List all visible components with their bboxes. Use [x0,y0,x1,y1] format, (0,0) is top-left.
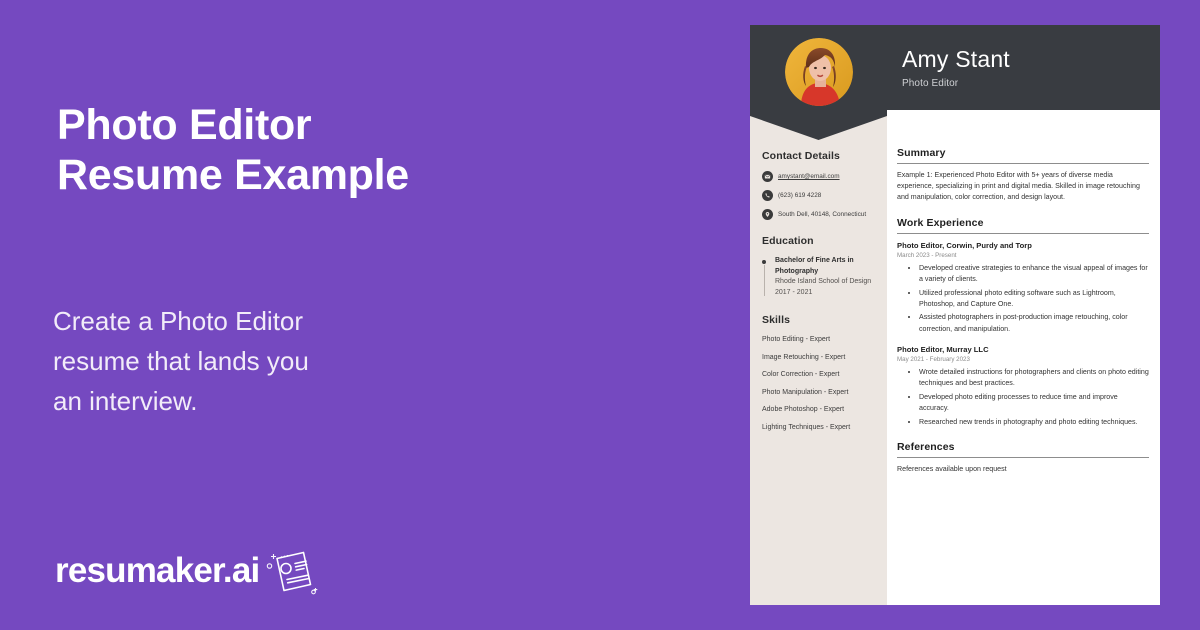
list-item: Lighting Techniques - Expert [762,423,880,433]
job-dates: May 2021 - February 2023 [897,355,1149,365]
job-bullets: Wrote detailed instructions for photogra… [897,367,1149,428]
summary-text: Example 1: Experienced Photo Editor with… [897,170,1149,204]
subheading-line-1: Create a Photo Editor [53,301,473,341]
education-dates: 2017 - 2021 [775,288,880,299]
brand-logo[interactable]: resumaker.ai [55,548,319,594]
timeline-line [764,265,765,296]
subheading-line-3: an interview. [53,381,473,421]
list-item: Wrote detailed instructions for photogra… [919,367,1149,389]
list-item: Adobe Photoshop - Expert [762,405,880,415]
job-entry: Photo Editor, Corwin, Purdy and Torp Mar… [897,240,1149,335]
list-item: Color Correction - Expert [762,370,880,380]
location-pin-icon [762,209,773,220]
list-item: Assisted photographers in post-productio… [919,312,1149,334]
subheading-line-2: resume that lands you [53,341,473,381]
education-heading: Education [762,235,880,247]
avatar [785,38,853,106]
contact-item-location: South Dell, 40148, Connecticut [762,209,880,220]
job-bullets: Developed creative strategies to enhance… [897,263,1149,335]
resume-sidebar-content: Contact Details amystant@email.com (623)… [762,150,880,440]
resume-main-column: Summary Example 1: Experienced Photo Edi… [897,147,1149,488]
skills-section: Skills Photo Editing - Expert Image Reto… [762,314,880,433]
summary-section: Summary Example 1: Experienced Photo Edi… [897,147,1149,204]
education-school: Rhode Island School of Design [775,277,880,288]
education-degree: Bachelor of Fine Arts in Photography [775,256,880,277]
skills-heading: Skills [762,314,880,326]
person-job-title: Photo Editor [902,78,1010,89]
list-item: Utilized professional photo editing soft… [919,288,1149,310]
contact-details-heading: Contact Details [762,150,880,162]
list-item: Developed creative strategies to enhance… [919,263,1149,285]
promo-subheading: Create a Photo Editor resume that lands … [53,301,473,421]
envelope-icon [762,171,773,182]
work-experience-heading: Work Experience [897,217,1149,234]
job-dates: March 2023 - Present [897,251,1149,261]
job-title: Photo Editor, Murray LLC [897,344,1149,355]
summary-heading: Summary [897,147,1149,164]
phone-icon [762,190,773,201]
resume-document-icon [263,546,319,596]
education-entry: Bachelor of Fine Arts in Photography Rho… [762,256,880,298]
list-item: Developed photo editing processes to red… [919,392,1149,414]
resume-preview-card[interactable]: Amy Stant Photo Editor Contact Details a… [750,25,1160,605]
references-section: References References available upon req… [897,441,1149,475]
job-title: Photo Editor, Corwin, Purdy and Torp [897,240,1149,251]
list-item: Photo Manipulation - Expert [762,388,880,398]
page-title: Photo Editor Resume Example [57,100,677,200]
header-chevron-shape [750,110,887,140]
contact-item-phone: (623) 619 4228 [762,190,880,201]
contact-item-email[interactable]: amystant@email.com [762,171,880,182]
education-section: Education Bachelor of Fine Arts in Photo… [762,235,880,298]
contact-location-text: South Dell, 40148, Connecticut [778,210,866,219]
job-entry: Photo Editor, Murray LLC May 2021 - Febr… [897,344,1149,428]
promo-banner: Photo Editor Resume Example Create a Pho… [0,0,1200,630]
contact-details-section: Contact Details amystant@email.com (623)… [762,150,880,220]
contact-phone-text: (623) 619 4228 [778,191,821,200]
references-text: References available upon request [897,464,1149,475]
headline-line-2: Resume Example [57,150,677,200]
list-item: Image Retouching - Expert [762,353,880,363]
promo-panel: Photo Editor Resume Example Create a Pho… [0,0,750,630]
resume-name-block: Amy Stant Photo Editor [902,45,1010,89]
brand-logo-text: resumaker.ai [55,553,259,589]
contact-email-text: amystant@email.com [778,172,840,181]
headline-line-1: Photo Editor [57,100,677,150]
timeline-dot-icon [762,260,766,264]
list-item: Photo Editing - Expert [762,335,880,345]
references-heading: References [897,441,1149,458]
resume-header: Amy Stant Photo Editor [750,25,1160,110]
list-item: Researched new trends in photography and… [919,417,1149,428]
person-name: Amy Stant [902,45,1010,73]
work-experience-section: Work Experience Photo Editor, Corwin, Pu… [897,217,1149,428]
